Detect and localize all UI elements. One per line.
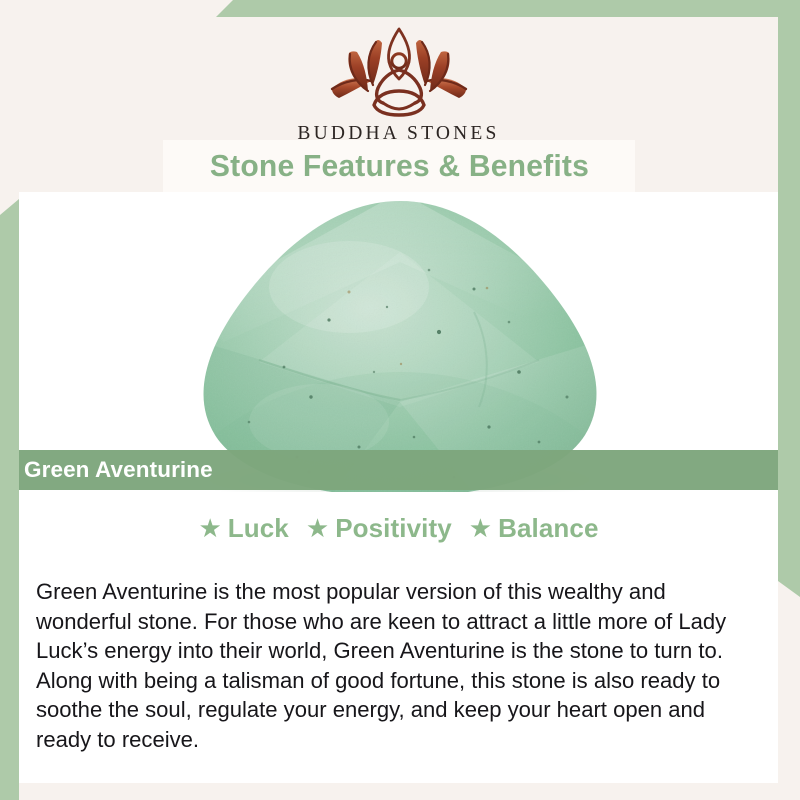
title-banner: Stone Features & Benefits bbox=[163, 140, 635, 192]
benefit-list: ★ Luck ★ Positivity ★ Balance bbox=[19, 513, 778, 544]
star-icon: ★ bbox=[306, 515, 329, 541]
benefit-label: Positivity bbox=[335, 513, 452, 544]
stone-benefits-poster: BUDDHA STONES Stone Features & Benefits bbox=[0, 0, 800, 800]
green-aventurine-photo bbox=[19, 192, 778, 492]
star-icon: ★ bbox=[469, 515, 492, 541]
stone-name-band-bg bbox=[19, 450, 778, 490]
page-title: Stone Features & Benefits bbox=[209, 148, 588, 184]
stone-description: Green Aventurine is the most popular ver… bbox=[36, 577, 757, 754]
frame-border-left bbox=[0, 199, 19, 800]
frame-border-right bbox=[778, 0, 800, 597]
benefits-panel: ★ Luck ★ Positivity ★ Balance Green Aven… bbox=[19, 492, 778, 783]
benefit-item-positivity: ★ Positivity bbox=[306, 513, 452, 544]
benefit-item-luck: ★ Luck bbox=[198, 513, 288, 544]
brand-logo: BUDDHA STONES bbox=[19, 25, 778, 145]
benefit-label: Luck bbox=[228, 513, 289, 544]
benefit-label: Balance bbox=[498, 513, 598, 544]
bottom-cream-strip bbox=[19, 783, 778, 800]
benefit-item-balance: ★ Balance bbox=[469, 513, 599, 544]
stone-photo-panel: Green Aventurine bbox=[19, 192, 778, 492]
lotus-meditation-icon bbox=[314, 25, 484, 121]
frame-border-top bbox=[216, 0, 800, 17]
star-icon: ★ bbox=[198, 515, 221, 541]
